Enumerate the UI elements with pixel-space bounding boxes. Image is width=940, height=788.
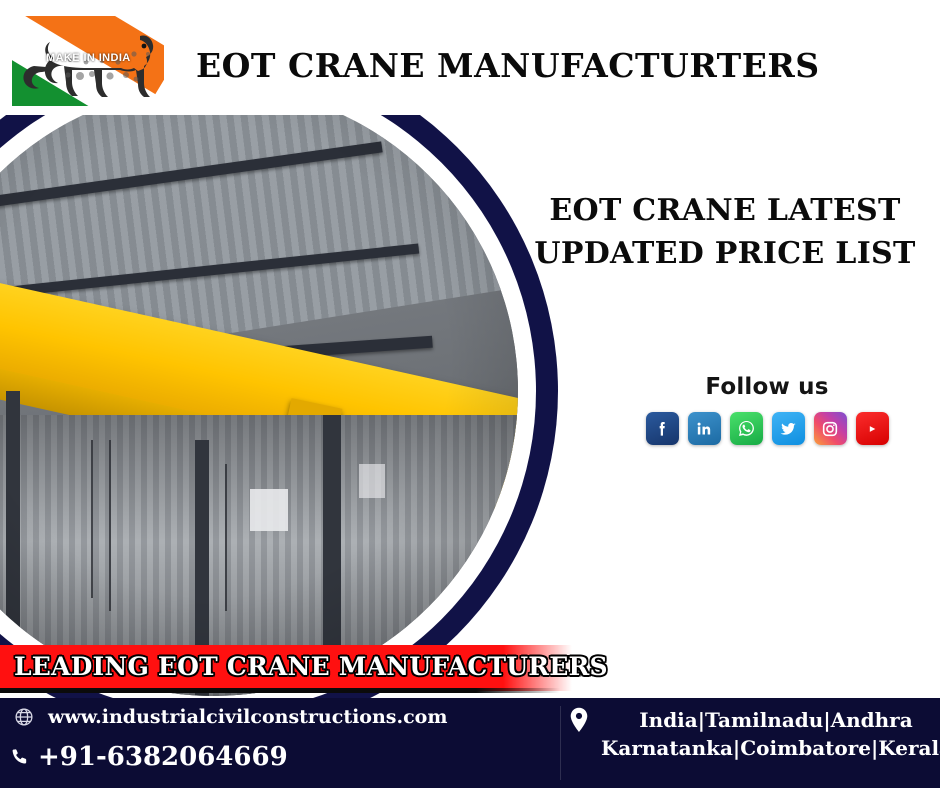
headline-line-2: UPDATED PRICE LIST — [520, 233, 930, 276]
instagram-icon[interactable] — [814, 412, 847, 445]
headline-block: EOT CRANE LATEST UPDATED PRICE LIST — [520, 190, 930, 275]
page-title: EOT CRANE MANUFACTURTERS — [196, 46, 820, 85]
location-line-1: India|Tamilnadu|Andhra — [601, 706, 940, 734]
headline-line-1: EOT CRANE LATEST — [520, 190, 930, 233]
follow-us-block: Follow us — [612, 374, 922, 445]
location-line-2: Karnatanka|Coimbatore|Kerala — [601, 734, 940, 762]
promo-banner: MAKE IN INDIA EOT CRANE MANUFACTURTERS — [0, 0, 940, 788]
footer-divider — [560, 706, 561, 780]
footer-website-row[interactable]: www.industrialcivilconstructions.com — [10, 706, 447, 728]
photo-vignette — [0, 86, 518, 696]
location-text: India|Tamilnadu|Andhra Karnatanka|Coimba… — [601, 706, 940, 763]
website-url[interactable]: www.industrialcivilconstructions.com — [48, 706, 447, 728]
linkedin-icon[interactable] — [688, 412, 721, 445]
banner-header: MAKE IN INDIA EOT CRANE MANUFACTURTERS — [0, 0, 940, 115]
follow-us-label: Follow us — [612, 374, 922, 400]
globe-icon — [10, 706, 38, 728]
map-pin-icon — [565, 706, 593, 740]
hero-circle — [0, 126, 568, 656]
whatsapp-icon[interactable] — [730, 412, 763, 445]
footer-location-row: India|Tamilnadu|Andhra Karnatanka|Coimba… — [565, 706, 940, 763]
footer-phone-row[interactable]: +91-6382064669 — [6, 742, 288, 772]
make-in-india-label: MAKE IN INDIA — [46, 52, 131, 64]
phone-icon — [6, 745, 34, 769]
make-in-india-logo: MAKE IN INDIA — [12, 16, 164, 106]
slogan-bar-underline — [0, 688, 560, 693]
youtube-icon[interactable] — [856, 412, 889, 445]
phone-number[interactable]: +91-6382064669 — [38, 742, 288, 772]
twitter-icon[interactable] — [772, 412, 805, 445]
social-links-row — [612, 412, 922, 445]
warehouse-crane-photo — [0, 86, 518, 696]
slogan-text: LEADING EOT CRANE MANUFACTURERS — [14, 652, 608, 681]
facebook-icon[interactable] — [646, 412, 679, 445]
